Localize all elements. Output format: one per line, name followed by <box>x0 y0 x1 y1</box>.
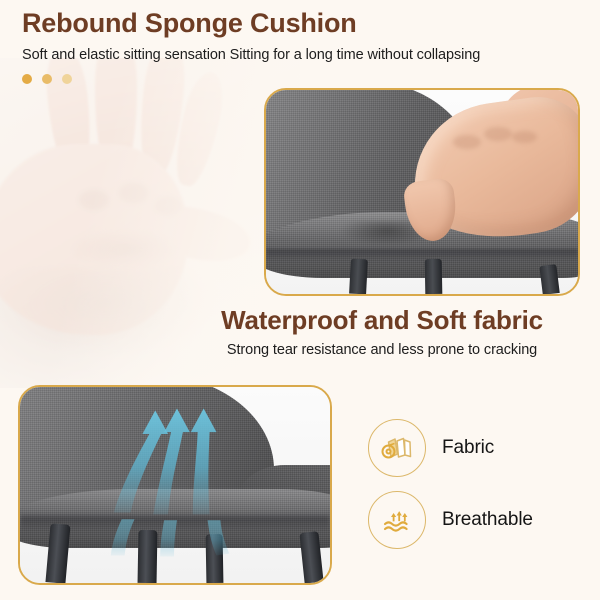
feature-item-breathable: Breathable <box>368 484 533 556</box>
chair-leg <box>539 265 560 295</box>
header-block: Rebound Sponge Cushion Soft and elastic … <box>22 8 582 84</box>
chair-leg <box>425 259 443 294</box>
hand-pressing-cushion-photo <box>264 88 580 296</box>
feature-label-fabric: Fabric <box>442 437 494 459</box>
dot-1-icon <box>22 74 32 84</box>
feature-label-breathable: Breathable <box>442 509 533 531</box>
chair-leg <box>349 259 368 295</box>
page-subtitle: Soft and elastic sitting sensation Sitti… <box>22 46 582 64</box>
breathable-waves-icon <box>368 491 426 549</box>
dot-2-icon <box>42 74 52 84</box>
mid-section-title: Waterproof and Soft fabric <box>182 306 582 336</box>
page-title: Rebound Sponge Cushion <box>22 8 582 39</box>
feature-list: Fabric Breathable <box>368 412 533 556</box>
decorative-dots <box>22 74 582 84</box>
dot-3-icon <box>62 74 72 84</box>
mid-section-heading: Waterproof and Soft fabric Strong tear r… <box>182 306 582 359</box>
airflow-arrows-icon <box>20 387 330 583</box>
mid-section-subtitle: Strong tear resistance and less prone to… <box>182 341 582 359</box>
feature-item-fabric: Fabric <box>368 412 533 484</box>
breathable-airflow-photo <box>18 385 332 585</box>
fabric-roll-icon <box>368 419 426 477</box>
